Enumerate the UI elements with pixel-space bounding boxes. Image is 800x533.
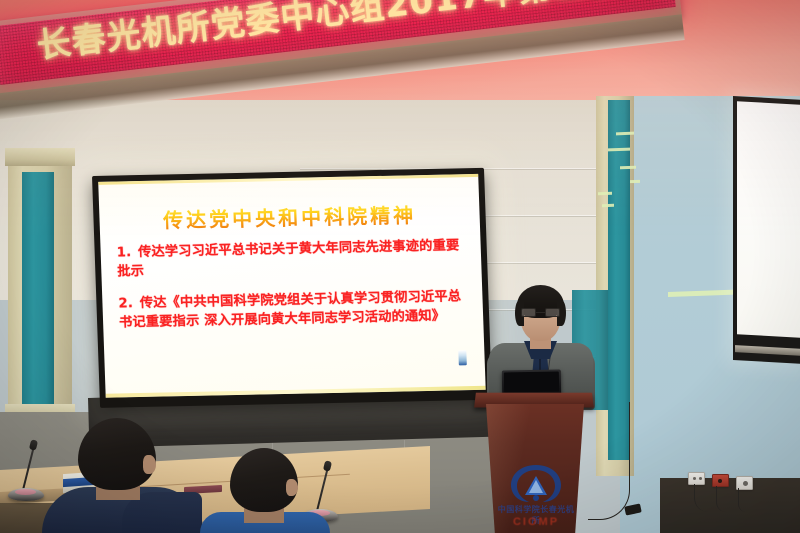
slide-item-1: 1. 传达学习习近平总书记关于黄大年同志先进事迹的重要批示 xyxy=(116,236,469,281)
outlet-socket-hole-4 xyxy=(743,481,748,486)
glasses-lens-right xyxy=(545,308,560,317)
panel-light-reflection-6 xyxy=(598,192,612,195)
slide-item-1-text: 传达学习习近平总书记关于黄大年同志先进事迹的重要批示 xyxy=(117,238,460,279)
audience-member-front-right-ear xyxy=(286,479,298,496)
panel-light-reflection-2 xyxy=(616,132,634,136)
pillar-cap-top-left xyxy=(5,148,75,166)
secondary-screen-roller xyxy=(735,345,800,356)
slide-title: 传达党中央和中科院精神 xyxy=(99,198,480,235)
wall-baseboard-dark xyxy=(660,478,800,533)
outlet-cable-2 xyxy=(716,486,726,512)
panel-light-reflection-4 xyxy=(620,166,636,170)
outlet-socket-hole-3 xyxy=(718,479,722,483)
laptop-screen xyxy=(504,372,559,393)
projection-screen-surface: 传达党中央和中科院精神 1. 传达学习习近平总书记关于黄大年同志先进事迹的重要批… xyxy=(98,174,485,398)
ciomp-institute-logo xyxy=(508,462,564,506)
audience-member-front-left-ear xyxy=(143,455,156,474)
pillar-accent-panel-left xyxy=(22,172,54,412)
slide-item-1-number: 1. xyxy=(116,245,131,260)
power-cable xyxy=(588,402,630,520)
podium-org-name-en: CIOMP xyxy=(496,516,576,528)
secondary-screen-surface xyxy=(737,101,800,338)
slide-item-2: 2. 传达《中共中国科学院党组关于认真学习贯彻习近平总书记重要指示 深入开展向黄… xyxy=(118,287,471,332)
microphone-indicator-left xyxy=(15,489,36,495)
presenter-laptop xyxy=(502,369,561,395)
panel-light-reflection-7 xyxy=(602,204,614,207)
conference-room-photo: 长春光机所党委中心组2017年第二次（扩大）学习会 传达党中央和中科院精神 1.… xyxy=(0,0,800,533)
main-projection-screen: 传达党中央和中科院精神 1. 传达学习习近平总书记关于黄大年同志先进事迹的重要批… xyxy=(92,168,492,408)
ciomp-logo-svg xyxy=(508,462,564,506)
outlet-socket-hole-1 xyxy=(693,477,696,480)
glasses-bridge xyxy=(536,312,545,313)
glasses-lens-left xyxy=(521,308,536,317)
water-bottle xyxy=(458,350,467,365)
outlet-cable-3 xyxy=(738,488,746,512)
panel-light-reflection-5 xyxy=(630,180,640,183)
slide-item-2-text: 传达《中共中国科学院党组关于认真学习贯彻习近平总书记重要指示 深入开展向黄大年同… xyxy=(119,289,462,330)
secondary-projection-screen xyxy=(733,96,800,364)
glasses-icon xyxy=(521,308,561,317)
slide-item-2-number: 2. xyxy=(118,296,133,311)
outlet-socket-hole-2 xyxy=(699,477,702,480)
slide-body: 1. 传达学习习近平总书记关于黄大年同志先进事迹的重要批示 2. 传达《中共中国… xyxy=(116,236,472,345)
